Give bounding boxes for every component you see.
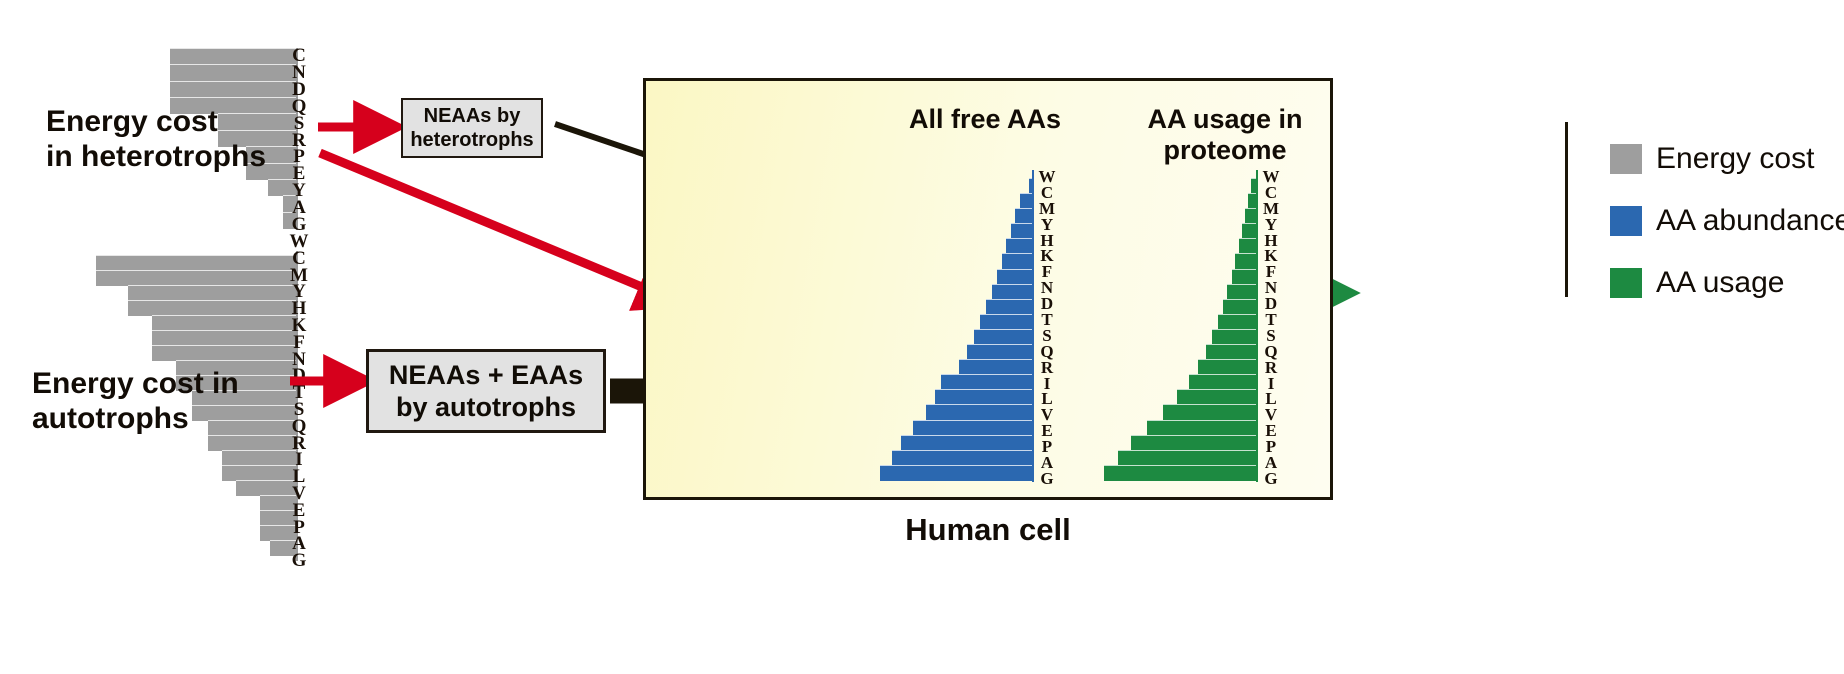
aa-letter-M: M <box>1039 200 1055 216</box>
chart-bars-aa-usage-proteome <box>1104 178 1256 480</box>
bar-Y <box>1011 223 1032 239</box>
bar-R <box>208 435 296 451</box>
caption-human-cell: Human cell <box>643 512 1333 549</box>
aa-letter-P: P <box>293 518 305 535</box>
bar-row <box>96 270 296 285</box>
bar-row <box>96 285 296 300</box>
aa-letter-C: C <box>1265 184 1277 200</box>
label-energy-cost-autotrophs: Energy cost in autotrophs <box>32 366 272 437</box>
aa-letter-A: A <box>1041 454 1053 470</box>
bar-row <box>96 330 296 345</box>
aa-letter-E: E <box>293 164 306 181</box>
bar-S <box>974 329 1032 345</box>
bar-row <box>880 450 1032 465</box>
box-neaas-by-heterotrophs-line2: heterotrophs <box>410 128 533 152</box>
aa-letter-Q: Q <box>1040 343 1053 359</box>
box-neaas-eaas-line2: by autotrophs <box>389 391 583 423</box>
aa-letter-K: K <box>1040 247 1053 263</box>
bar-row <box>1104 389 1256 404</box>
bar-row <box>96 480 296 495</box>
box-neaas-eaas-line1: NEAAs + EAAs <box>389 359 583 391</box>
bar-row <box>880 465 1032 480</box>
label-energy-cost-heterotrophs-line2: in heterotrophs <box>46 139 286 174</box>
title-aa-usage-line1: AA usage in <box>1120 104 1330 135</box>
bar-F <box>1232 269 1256 285</box>
aa-labels-all-free-aas: WCMYHKFNDTSQRILVEPAG <box>1036 168 1058 486</box>
legend-label: Energy cost <box>1656 142 1814 176</box>
bar-row <box>1104 404 1256 419</box>
bar-row <box>1104 269 1256 284</box>
bar-row <box>880 359 1032 374</box>
bar-row <box>170 48 296 64</box>
legend-label: AA abundance <box>1656 204 1844 238</box>
bar-V <box>926 404 1032 420</box>
bar-row <box>1104 465 1256 480</box>
chart-aa-usage-proteome <box>1104 178 1256 480</box>
bar-row <box>1104 435 1256 450</box>
chart-axis-all-free-aas <box>1032 170 1034 482</box>
bar-row <box>96 450 296 465</box>
aa-letter-F: F <box>293 333 305 350</box>
bar-row <box>880 178 1032 193</box>
bar-N <box>170 64 296 81</box>
bar-row <box>880 404 1032 419</box>
bar-L <box>1177 389 1256 405</box>
aa-letter-I: I <box>1044 375 1051 391</box>
bar-N <box>992 284 1032 300</box>
aa-labels-energy-cost-heterotrophs: CNDQSRPEYAG <box>288 46 310 232</box>
aa-letter-H: H <box>1264 232 1277 248</box>
title-aa-usage-line2: proteome <box>1120 135 1330 166</box>
bar-G <box>1104 465 1256 481</box>
aa-letter-D: D <box>292 366 306 383</box>
bar-S <box>1212 329 1256 345</box>
legend-swatch-aa-abundance <box>1610 206 1642 236</box>
aa-letter-C: C <box>292 46 306 63</box>
bar-row <box>170 64 296 80</box>
aa-labels-aa-usage-proteome: WCMYHKFNDTSQRILVEPAG <box>1260 168 1282 486</box>
bar-row <box>1104 344 1256 359</box>
aa-letter-M: M <box>1263 200 1279 216</box>
aa-letter-N: N <box>1265 279 1277 295</box>
aa-letter-A: A <box>292 534 306 551</box>
red-arrow-heterotroph-to-endogenous-box <box>320 153 666 297</box>
aa-letter-V: V <box>292 484 306 501</box>
bar-K <box>152 330 296 346</box>
aa-letter-Y: Y <box>292 181 306 198</box>
aa-letter-F: F <box>1266 263 1276 279</box>
bar-row <box>96 495 296 510</box>
aa-letter-T: T <box>1041 311 1052 327</box>
bar-H <box>152 315 296 331</box>
bar-A <box>892 450 1032 466</box>
bar-row <box>1104 193 1256 208</box>
bar-row <box>1104 223 1256 238</box>
aa-letter-E: E <box>293 501 306 518</box>
bar-L <box>222 465 296 481</box>
aa-letter-L: L <box>293 467 306 484</box>
aa-letter-R: R <box>1041 359 1053 375</box>
aa-letter-T: T <box>1265 311 1276 327</box>
bar-row <box>1104 299 1256 314</box>
bar-row <box>1104 374 1256 389</box>
bar-row <box>880 374 1032 389</box>
bar-V <box>236 480 296 496</box>
bar-L <box>935 389 1032 405</box>
aa-letter-G: G <box>292 551 307 568</box>
bar-R <box>959 359 1032 375</box>
bar-row <box>170 212 296 228</box>
bar-row <box>880 435 1032 450</box>
bar-F <box>997 269 1032 285</box>
aa-letter-S: S <box>294 400 305 417</box>
bar-C <box>1248 193 1256 209</box>
bar-Y <box>1242 223 1256 239</box>
box-neaas-by-heterotrophs-line1: NEAAs by <box>410 104 533 128</box>
bar-W <box>96 255 296 271</box>
aa-letter-N: N <box>292 350 306 367</box>
bar-G <box>880 465 1032 481</box>
legend-divider <box>1565 122 1568 297</box>
bar-row <box>1104 314 1256 329</box>
bar-row <box>96 435 296 450</box>
aa-letter-R: R <box>292 434 306 451</box>
bar-H <box>1006 238 1032 254</box>
aa-letter-N: N <box>1041 279 1053 295</box>
aa-letter-V: V <box>1041 406 1053 422</box>
aa-letter-S: S <box>294 114 305 131</box>
bar-C <box>1020 193 1032 209</box>
bar-I <box>1189 374 1256 390</box>
aa-letter-K: K <box>292 316 307 333</box>
bar-I <box>222 450 296 466</box>
legend-swatch-energy-cost <box>1610 144 1642 174</box>
bar-row <box>1104 208 1256 223</box>
bar-row <box>880 420 1032 435</box>
aa-letter-H: H <box>292 299 307 316</box>
aa-letter-W: W <box>290 232 309 249</box>
bar-row <box>880 389 1032 404</box>
aa-letter-Q: Q <box>292 417 307 434</box>
bar-N <box>1227 284 1256 300</box>
aa-letter-Y: Y <box>292 282 306 299</box>
aa-letter-V: V <box>1265 406 1277 422</box>
aa-letter-G: G <box>1040 470 1053 486</box>
bar-C <box>96 270 296 286</box>
bar-H <box>1239 238 1256 254</box>
bar-row <box>880 193 1032 208</box>
bar-row <box>1104 253 1256 268</box>
label-energy-cost-heterotrophs-line1: Energy cost <box>46 104 286 139</box>
chart-bars-all-free-aas <box>880 178 1032 480</box>
aa-letter-C: C <box>292 249 306 266</box>
bar-row <box>1104 359 1256 374</box>
bar-row <box>96 300 296 315</box>
legend-item-aa-abundance[interactable]: AA abundance <box>1610 204 1840 238</box>
bar-row <box>170 195 296 211</box>
aa-letter-P: P <box>293 147 305 164</box>
bar-row <box>1104 450 1256 465</box>
aa-letter-Q: Q <box>292 97 307 114</box>
aa-letter-G: G <box>292 215 307 232</box>
aa-letter-P: P <box>1042 438 1052 454</box>
aa-letter-K: K <box>1264 247 1277 263</box>
legend-item-energy-cost[interactable]: Energy cost <box>1610 142 1840 176</box>
bar-Y <box>128 300 296 316</box>
aa-letter-Y: Y <box>1265 216 1277 232</box>
title-all-free-aas: All free AAs <box>880 104 1090 135</box>
bar-row <box>96 510 296 525</box>
bar-row <box>96 465 296 480</box>
legend-swatch-aa-usage <box>1610 268 1642 298</box>
bar-row <box>1104 284 1256 299</box>
aa-letter-I: I <box>295 450 302 467</box>
bar-row <box>96 540 296 555</box>
bar-row <box>96 255 296 270</box>
bar-K <box>1002 253 1032 269</box>
box-neaas-plus-eaas-by-autotrophs[interactable]: NEAAs + EAAs by autotrophs <box>366 349 606 433</box>
label-energy-cost-heterotrophs: Energy cost in heterotrophs <box>46 104 286 175</box>
aa-letter-G: G <box>1264 470 1277 486</box>
bar-row <box>880 299 1032 314</box>
bar-row <box>880 223 1032 238</box>
aa-letter-S: S <box>1266 327 1275 343</box>
bar-P <box>1131 435 1256 451</box>
bar-M <box>1015 208 1032 224</box>
legend-item-aa-usage[interactable]: AA usage <box>1610 266 1840 300</box>
aa-letter-P: P <box>1266 438 1276 454</box>
bar-row <box>1104 178 1256 193</box>
aa-letter-L: L <box>1041 390 1052 406</box>
aa-letter-R: R <box>1265 359 1277 375</box>
aa-letter-E: E <box>1041 422 1052 438</box>
aa-letter-L: L <box>1265 390 1276 406</box>
bar-row <box>880 253 1032 268</box>
bar-row <box>880 238 1032 253</box>
bar-row <box>880 314 1032 329</box>
aa-letter-W: W <box>1263 168 1280 184</box>
aa-letter-R: R <box>292 131 306 148</box>
aa-letter-I: I <box>1268 375 1275 391</box>
bar-I <box>941 374 1032 390</box>
bar-row <box>96 315 296 330</box>
bar-row <box>1104 420 1256 435</box>
legend-label: AA usage <box>1656 266 1784 300</box>
bar-row <box>170 179 296 195</box>
aa-letter-A: A <box>1265 454 1277 470</box>
bar-row <box>1104 329 1256 344</box>
bar-D <box>170 81 296 98</box>
aa-letter-D: D <box>1265 295 1277 311</box>
aa-letter-M: M <box>290 266 308 283</box>
bar-D <box>1223 299 1256 315</box>
bar-row <box>96 525 296 540</box>
bar-Q <box>967 344 1032 360</box>
bar-E <box>1147 420 1256 436</box>
bar-row <box>880 208 1032 223</box>
aa-letter-T: T <box>293 383 306 400</box>
bar-row <box>96 345 296 360</box>
box-neaas-by-heterotrophs[interactable]: NEAAs by heterotrophs <box>401 98 543 158</box>
chart-all-free-aas <box>880 178 1032 480</box>
label-energy-cost-autotrophs-line2: autotrophs <box>32 401 272 436</box>
bar-R <box>1198 359 1256 375</box>
bar-F <box>152 345 296 361</box>
bar-T <box>980 314 1032 330</box>
bar-row <box>880 329 1032 344</box>
aa-letter-N: N <box>292 63 306 80</box>
bar-M <box>128 285 296 301</box>
bar-P <box>901 435 1032 451</box>
legend: Energy costAA abundanceAA usage <box>1610 142 1840 328</box>
bar-row <box>170 81 296 97</box>
aa-letter-A: A <box>292 198 306 215</box>
aa-letter-S: S <box>1042 327 1051 343</box>
bar-D <box>986 299 1032 315</box>
bar-Q <box>1206 344 1256 360</box>
bar-V <box>1163 404 1256 420</box>
bar-T <box>1218 314 1256 330</box>
bar-K <box>1235 253 1256 269</box>
aa-letter-F: F <box>1042 263 1052 279</box>
aa-letter-Y: Y <box>1041 216 1053 232</box>
aa-letter-W: W <box>1039 168 1056 184</box>
bar-E <box>913 420 1032 436</box>
bar-M <box>1245 208 1256 224</box>
aa-letter-C: C <box>1041 184 1053 200</box>
aa-letter-D: D <box>292 80 306 97</box>
label-energy-cost-autotrophs-line1: Energy cost in <box>32 366 272 401</box>
aa-letter-D: D <box>1041 295 1053 311</box>
bar-row <box>880 269 1032 284</box>
bar-row <box>880 284 1032 299</box>
title-aa-usage-in-proteome: AA usage in proteome <box>1120 104 1330 167</box>
bar-row <box>880 344 1032 359</box>
aa-labels-energy-cost-autotrophs: WCMYHKFNDTSQRILVEPAG <box>288 232 310 568</box>
aa-letter-E: E <box>1265 422 1276 438</box>
chart-axis-aa-usage-proteome <box>1256 170 1258 482</box>
bar-row <box>1104 238 1256 253</box>
aa-letter-Q: Q <box>1264 343 1277 359</box>
aa-letter-H: H <box>1040 232 1053 248</box>
bar-C <box>170 48 296 65</box>
bar-A <box>1118 450 1256 466</box>
